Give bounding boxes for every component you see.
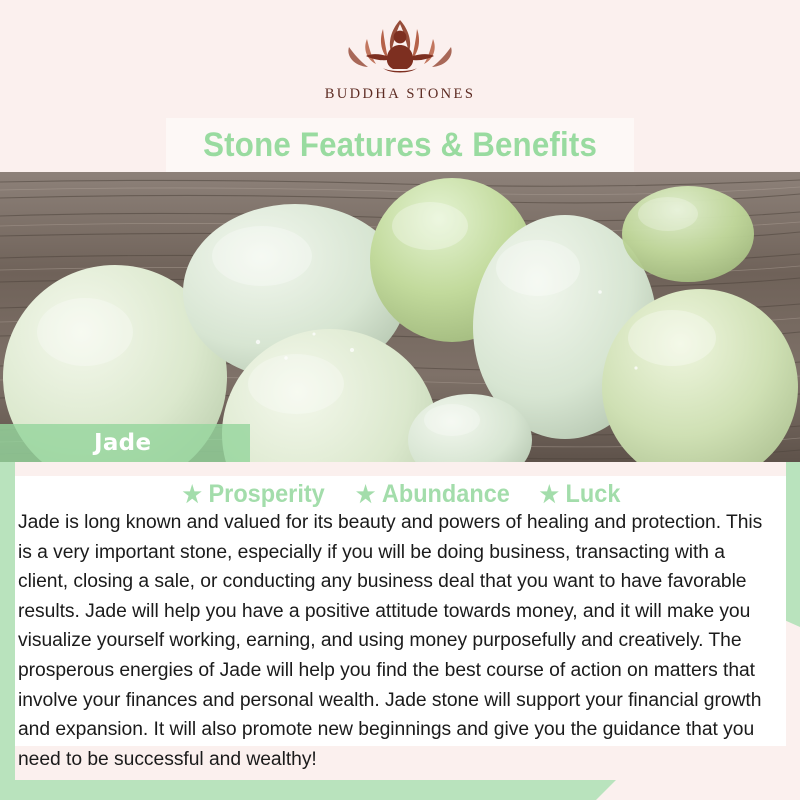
stone-photo [0, 172, 800, 462]
benefit-item-abundance: ★ Abundance [356, 480, 510, 509]
stone-description-text: Jade is long known and valued for its be… [18, 508, 773, 774]
stone-name: Jade [94, 430, 151, 456]
benefit-item-prosperity: ★ Prosperity [183, 480, 325, 509]
section-title-banner: Stone Features & Benefits [166, 118, 634, 172]
decorative-bottom-green-bar [0, 778, 618, 800]
lotus-meditation-icon [325, 14, 475, 82]
benefit-item-luck: ★ Luck [540, 480, 621, 509]
stone-name-band: Jade [0, 424, 250, 462]
star-icon: ★ [356, 483, 375, 506]
benefit-label: Prosperity [208, 480, 324, 509]
stone-description-card: ★ Prosperity ★ Abundance ★ Luck Jade is … [15, 462, 786, 780]
page-title: Stone Features & Benefits [203, 126, 597, 165]
brand-header: BUDDHA STONES [0, 0, 800, 118]
benefit-label: Luck [566, 480, 621, 509]
benefit-label: Abundance [382, 480, 510, 509]
star-icon: ★ [540, 483, 559, 506]
brand-name: BUDDHA STONES [325, 86, 476, 103]
benefits-list: ★ Prosperity ★ Abundance ★ Luck [15, 476, 786, 512]
stone-info-card: BUDDHA STONES [0, 0, 800, 800]
star-icon: ★ [183, 483, 202, 506]
card-top-strip [15, 462, 786, 476]
